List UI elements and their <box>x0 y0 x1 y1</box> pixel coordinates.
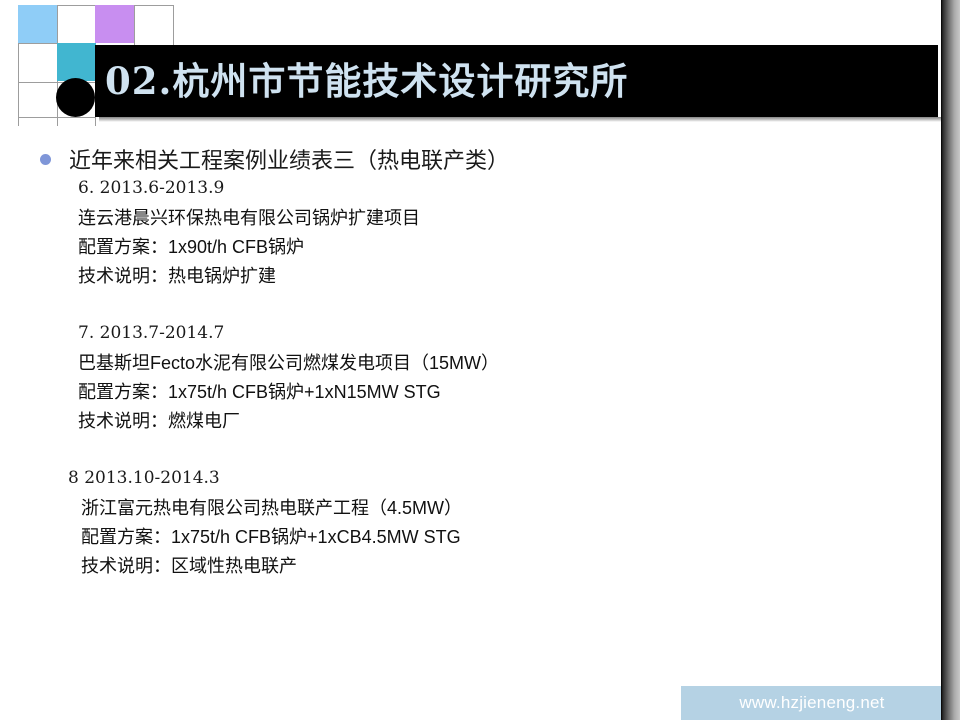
entry-description: 技术说明：区域性热电联产 <box>81 552 908 581</box>
list-item: 7. 2013.7-2014.7 巴基斯坦Fecto水泥有限公司燃煤发电项目（1… <box>78 321 908 436</box>
entry-period: 6. 2013.6-2013.9 <box>78 176 908 200</box>
decor-square-light-blue <box>18 5 57 43</box>
page-title: 02.杭州市节能技术设计研究所 <box>105 52 628 110</box>
entry-project: 连云港晨兴环保热电有限公司锅炉扩建项目 <box>78 204 908 233</box>
entry-configuration: 配置方案：1x75t/h CFB锅炉+1xCB4.5MW STG <box>81 523 908 552</box>
section-heading-label: 近年来相关工程案例业绩表三（热电联产类） <box>69 143 509 175</box>
decor-grid-line-v4 <box>134 5 135 45</box>
footer-website-label: www.hzjieneng.net <box>681 686 943 720</box>
bullet-dot-icon <box>40 154 51 165</box>
entry-period: 7. 2013.7-2014.7 <box>78 321 908 345</box>
entry-configuration: 配置方案：1x75t/h CFB锅炉+1xN15MW STG <box>78 378 908 407</box>
decor-grid-line-v5 <box>173 5 174 45</box>
list-item: 6. 2013.6-2013.9 连云港晨兴环保热电有限公司锅炉扩建项目 配置方… <box>78 176 908 291</box>
decor-square-teal <box>57 43 96 81</box>
entry-description: 技术说明：燃煤电厂 <box>78 407 908 436</box>
entry-description: 技术说明：热电锅炉扩建 <box>78 262 908 291</box>
entry-configuration: 配置方案：1x90t/h CFB锅炉 <box>78 233 908 262</box>
section-heading: 近年来相关工程案例业绩表三（热电联产类） <box>40 143 509 175</box>
project-list: 6. 2013.6-2013.9 连云港晨兴环保热电有限公司锅炉扩建项目 配置方… <box>78 176 908 581</box>
page-edge-shadow <box>941 0 960 720</box>
entry-period: 8 2013.10-2014.3 <box>68 466 908 490</box>
title-bar-shadow <box>99 117 942 122</box>
slide-canvas: 02.杭州市节能技术设计研究所 近年来相关工程案例业绩表三（热电联产类） 6. … <box>0 0 960 720</box>
list-item: 8 2013.10-2014.3 浙江富元热电有限公司热电联产工程（4.5MW）… <box>68 466 908 581</box>
decor-square-purple <box>95 5 134 43</box>
entry-project: 巴基斯坦Fecto水泥有限公司燃煤发电项目（15MW） <box>78 349 908 378</box>
entry-project: 浙江富元热电有限公司热电联产工程（4.5MW） <box>81 494 908 523</box>
decor-circle-black <box>56 78 95 117</box>
